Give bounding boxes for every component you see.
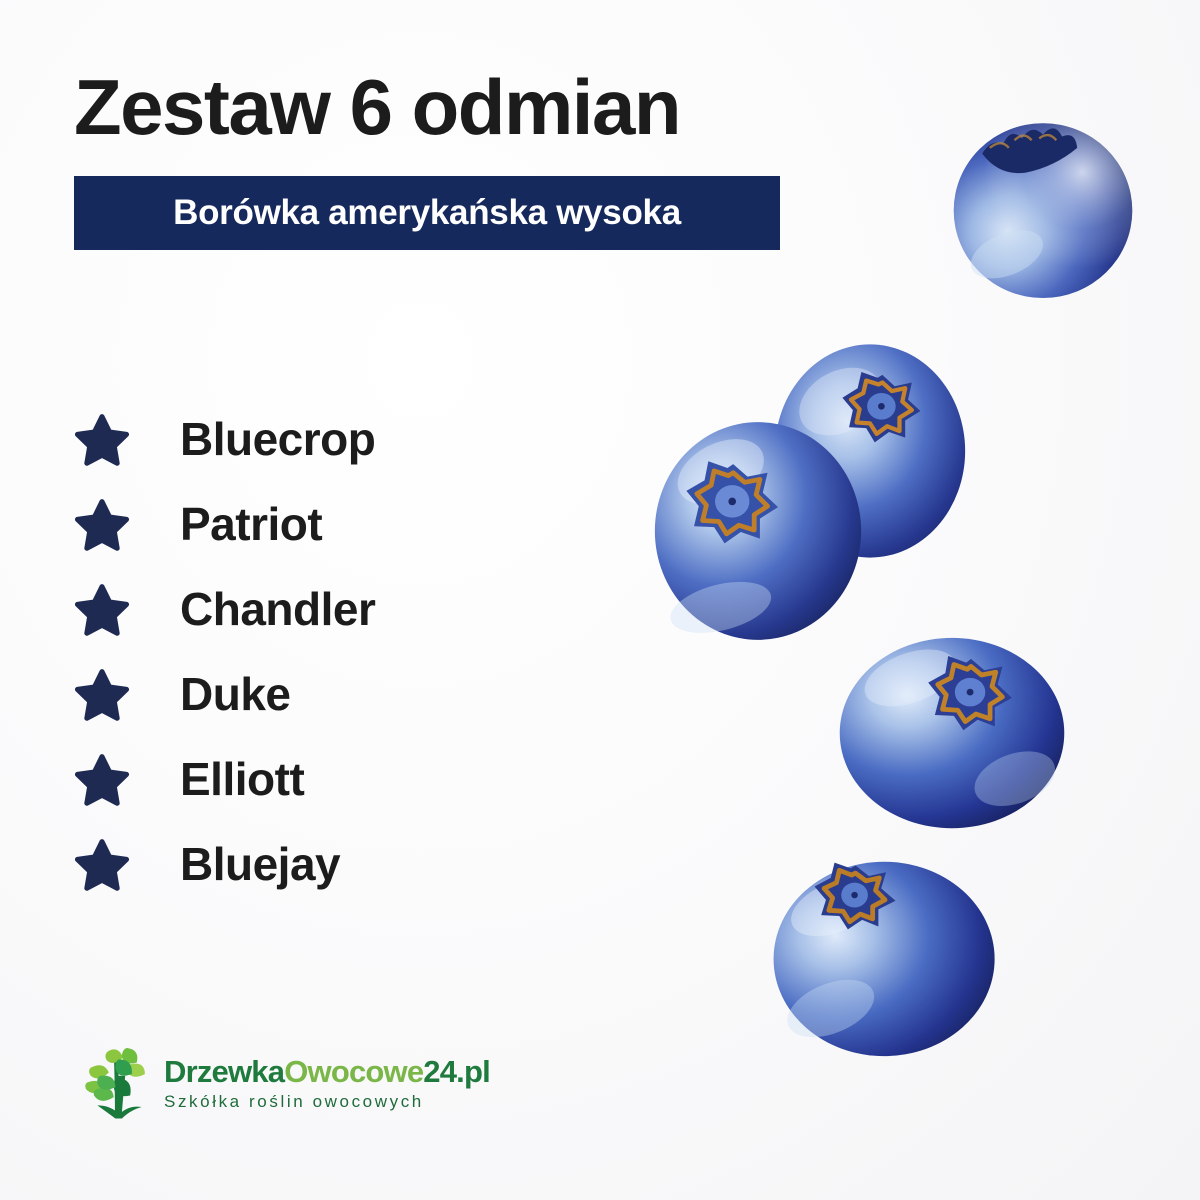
logo-wordmark: DrzewkaOwocowe24.pl bbox=[164, 1056, 490, 1089]
star-icon bbox=[74, 666, 130, 722]
variety-label: Bluejay bbox=[180, 841, 340, 887]
variety-label: Chandler bbox=[180, 586, 375, 632]
blueberry-icon bbox=[772, 340, 968, 562]
list-item: Elliott bbox=[74, 736, 554, 821]
blueberry-icon bbox=[652, 418, 864, 644]
variety-list: Bluecrop Patriot Chandler Duke Elliott bbox=[74, 396, 554, 906]
variety-label: Elliott bbox=[180, 756, 304, 802]
variety-label: Duke bbox=[180, 671, 290, 717]
list-item: Chandler bbox=[74, 566, 554, 651]
list-item: Patriot bbox=[74, 481, 554, 566]
list-item: Duke bbox=[74, 651, 554, 736]
variety-label: Bluecrop bbox=[180, 416, 375, 462]
list-item: Bluejay bbox=[74, 821, 554, 906]
star-icon bbox=[74, 836, 130, 892]
logo-wordmark-part1: Drzewka bbox=[164, 1054, 284, 1089]
blueberry-icon bbox=[948, 104, 1138, 302]
list-item: Bluecrop bbox=[74, 396, 554, 481]
brand-logo[interactable]: DrzewkaOwocowe24.pl Szkółka roślin owoco… bbox=[76, 1038, 490, 1130]
poster-root: Zestaw 6 odmian Borówka amerykańska wyso… bbox=[0, 0, 1200, 1200]
variety-label: Patriot bbox=[180, 501, 322, 547]
star-icon bbox=[74, 496, 130, 552]
page-title: Zestaw 6 odmian bbox=[74, 68, 680, 146]
star-icon bbox=[74, 411, 130, 467]
logo-text-block: DrzewkaOwocowe24.pl Szkółka roślin owoco… bbox=[164, 1056, 490, 1112]
star-icon bbox=[74, 751, 130, 807]
subtitle-badge: Borówka amerykańska wysoka bbox=[74, 176, 780, 250]
blueberry-icon bbox=[836, 636, 1068, 832]
logo-wordmark-part3: 24.pl bbox=[423, 1054, 490, 1089]
logo-wordmark-part2: Owocowe bbox=[284, 1054, 423, 1089]
subtitle-badge-label: Borówka amerykańska wysoka bbox=[173, 193, 681, 233]
star-icon bbox=[74, 581, 130, 637]
blueberry-icon bbox=[770, 856, 1002, 1058]
tree-icon bbox=[76, 1038, 158, 1130]
logo-tagline: Szkółka roślin owocowych bbox=[164, 1092, 490, 1112]
